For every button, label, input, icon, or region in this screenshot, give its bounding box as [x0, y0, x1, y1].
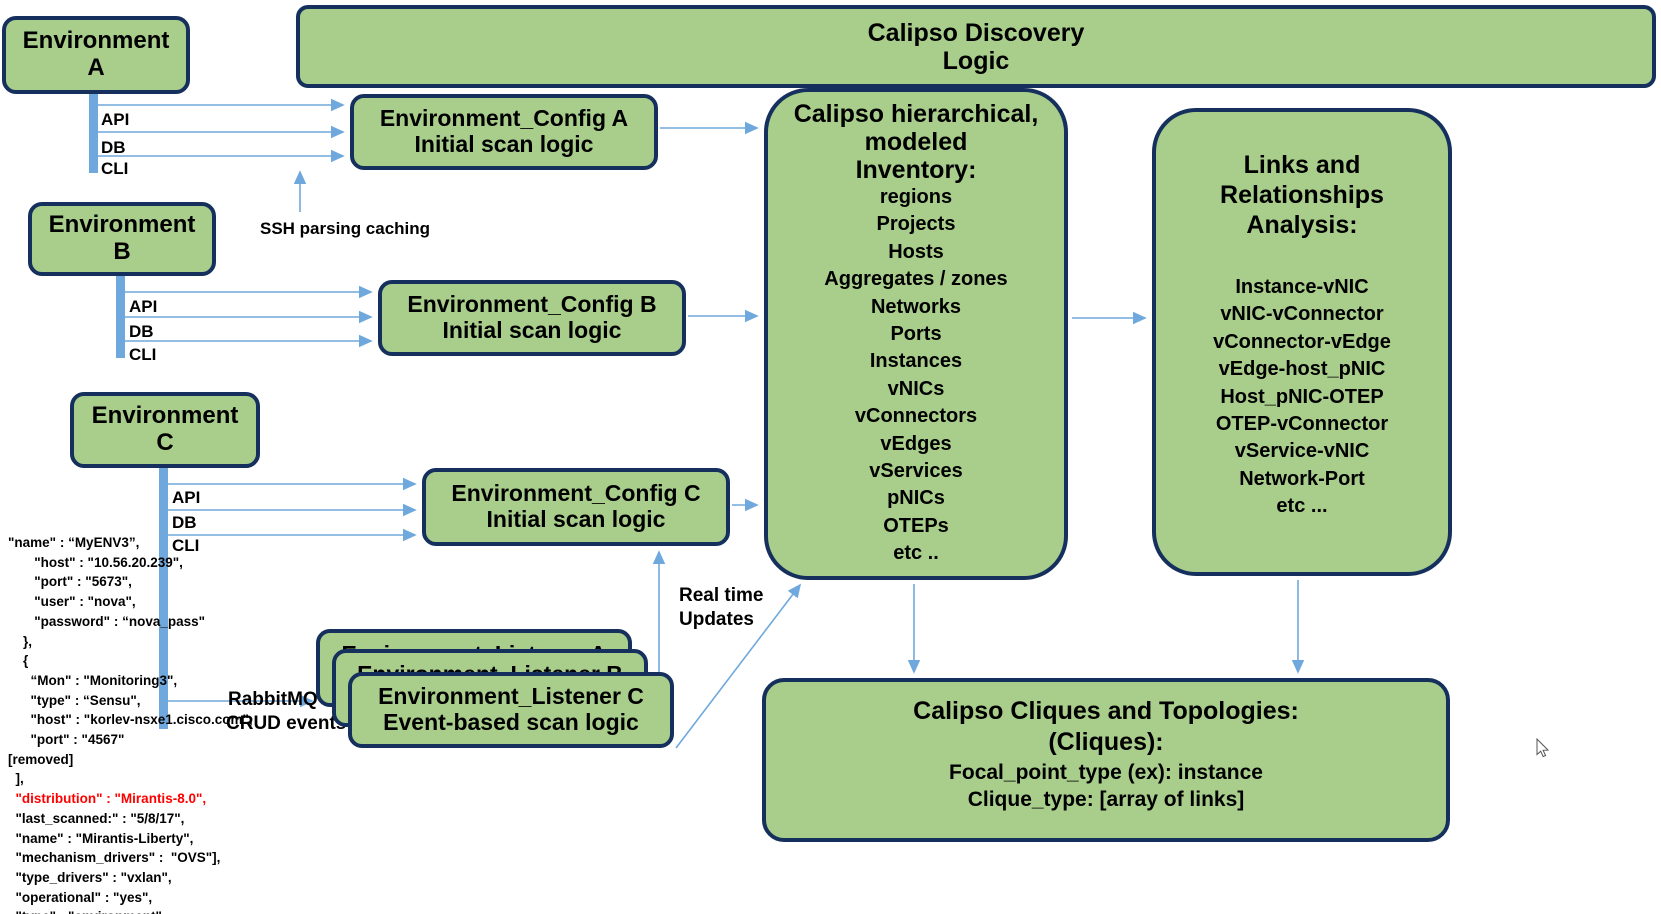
node-environment-a-line-2: A: [14, 55, 178, 82]
node-environment-c-line-2: C: [82, 430, 248, 457]
channel-label-db-env-b: DB: [129, 322, 154, 342]
inventory-item: Aggregates / zones: [776, 266, 1056, 293]
node-environment-b[interactable]: Environment B: [28, 202, 216, 276]
node-links-relationships-analysis[interactable]: Links and Relationships Analysis: Instan…: [1152, 108, 1452, 576]
inventory-item: Projects: [776, 211, 1056, 238]
node-environment-config-a-line-1: Environment_Config A: [362, 106, 646, 132]
channel-stem-env-a: [89, 93, 98, 173]
node-environment-listener-c-line-1: Environment_Listener C: [360, 684, 662, 710]
links-item: vNIC-vConnector: [1164, 301, 1440, 328]
banner-calipso-discovery-logic: Calipso Discovery Logic: [296, 5, 1656, 88]
links-heading-line-2: Relationships: [1164, 180, 1440, 210]
channel-label-db-env-a: DB: [101, 138, 126, 158]
inventory-item: vServices: [776, 458, 1056, 485]
node-environment-listener-c[interactable]: Environment_Listener C Event-based scan …: [348, 672, 674, 748]
channel-label-api-env-a: API: [101, 110, 129, 130]
links-heading-line-1: Links and: [1164, 150, 1440, 180]
channel-stem-env-b: [116, 276, 125, 358]
inventory-item: Ports: [776, 321, 1056, 348]
node-environment-config-c-line-2: Initial scan logic: [434, 507, 718, 533]
diagram-canvas: Calipso Discovery Logic Environment A En…: [0, 0, 1661, 914]
node-environment-config-b[interactable]: Environment_Config B Initial scan logic: [378, 280, 686, 356]
node-environment-c-line-1: Environment: [82, 403, 248, 430]
annotation-ssh-parsing-caching: SSH parsing caching: [260, 219, 430, 239]
inventory-item: Networks: [776, 294, 1056, 321]
banner-line-2: Logic: [308, 47, 1644, 75]
channel-label-api-env-b: API: [129, 297, 157, 317]
node-calipso-cliques-topologies[interactable]: Calipso Cliques and Topologies: (Cliques…: [762, 678, 1450, 842]
inventory-item: vConnectors: [776, 403, 1056, 430]
node-environment-config-a-line-2: Initial scan logic: [362, 132, 646, 158]
links-item: vEdge-host_pNIC: [1164, 356, 1440, 383]
annotation-real-time-line-1: Real time: [679, 585, 763, 607]
links-item: vService-vNIC: [1164, 438, 1440, 465]
node-environment-c[interactable]: Environment C: [70, 392, 260, 468]
links-item: Network-Port: [1164, 466, 1440, 493]
inventory-item: pNICs: [776, 485, 1056, 512]
inventory-heading-line-2: modeled: [776, 128, 1056, 156]
node-environment-config-b-line-2: Initial scan logic: [390, 318, 674, 344]
inventory-item: etc ..: [776, 540, 1056, 567]
annotation-real-time-line-2: Updates: [679, 609, 754, 631]
links-item: vConnector-vEdge: [1164, 329, 1440, 356]
links-heading-spacer: [1164, 240, 1440, 274]
inventory-item: Hosts: [776, 239, 1056, 266]
json-lines-before: "name" : “MyENV3”, "host" : "10.56.20.23…: [8, 535, 253, 786]
mouse-cursor-icon: [1536, 738, 1550, 758]
node-environment-config-b-line-1: Environment_Config B: [390, 292, 674, 318]
json-highlight-line: "distribution" : "Mirantis-8.0",: [8, 791, 206, 806]
node-calipso-inventory[interactable]: Calipso hierarchical, modeled Inventory:…: [764, 88, 1068, 580]
cliques-item: Clique_type: [array of links]: [774, 786, 1438, 813]
environment-config-json-snippet: "name" : “MyENV3”, "host" : "10.56.20.23…: [8, 533, 308, 914]
node-environment-a[interactable]: Environment A: [2, 16, 190, 94]
links-item: OTEP-vConnector: [1164, 411, 1440, 438]
node-environment-b-line-1: Environment: [40, 212, 204, 239]
node-environment-listener-c-line-2: Event-based scan logic: [360, 710, 662, 736]
node-environment-config-c[interactable]: Environment_Config C Initial scan logic: [422, 468, 730, 546]
inventory-heading-line-1: Calipso hierarchical,: [776, 100, 1056, 128]
channel-label-api-env-c: API: [172, 488, 200, 508]
links-item: etc ...: [1164, 493, 1440, 520]
cliques-item: Focal_point_type (ex): instance: [774, 759, 1438, 786]
inventory-item: OTEPs: [776, 513, 1056, 540]
node-environment-a-line-1: Environment: [14, 28, 178, 55]
links-item: Instance-vNIC: [1164, 274, 1440, 301]
node-environment-config-a[interactable]: Environment_Config A Initial scan logic: [350, 94, 658, 170]
node-environment-config-c-line-1: Environment_Config C: [434, 481, 718, 507]
channel-label-cli-env-b: CLI: [129, 345, 156, 365]
banner-line-1: Calipso Discovery: [308, 19, 1644, 47]
links-item: Host_pNIC-OTEP: [1164, 384, 1440, 411]
cliques-heading-line-1: Calipso Cliques and Topologies:: [774, 696, 1438, 727]
inventory-item: vNICs: [776, 376, 1056, 403]
inventory-item: Instances: [776, 348, 1056, 375]
json-lines-after: "last_scanned:" : "5/8/17", "name" : "Mi…: [8, 811, 220, 914]
links-heading-line-3: Analysis:: [1164, 210, 1440, 240]
inventory-item: regions: [776, 184, 1056, 211]
channel-label-cli-env-a: CLI: [101, 159, 128, 179]
inventory-item: vEdges: [776, 431, 1056, 458]
channel-label-db-env-c: DB: [172, 513, 197, 533]
inventory-heading-line-3: Inventory:: [776, 156, 1056, 184]
cliques-heading-line-2: (Cliques):: [774, 727, 1438, 758]
node-environment-b-line-2: B: [40, 239, 204, 266]
